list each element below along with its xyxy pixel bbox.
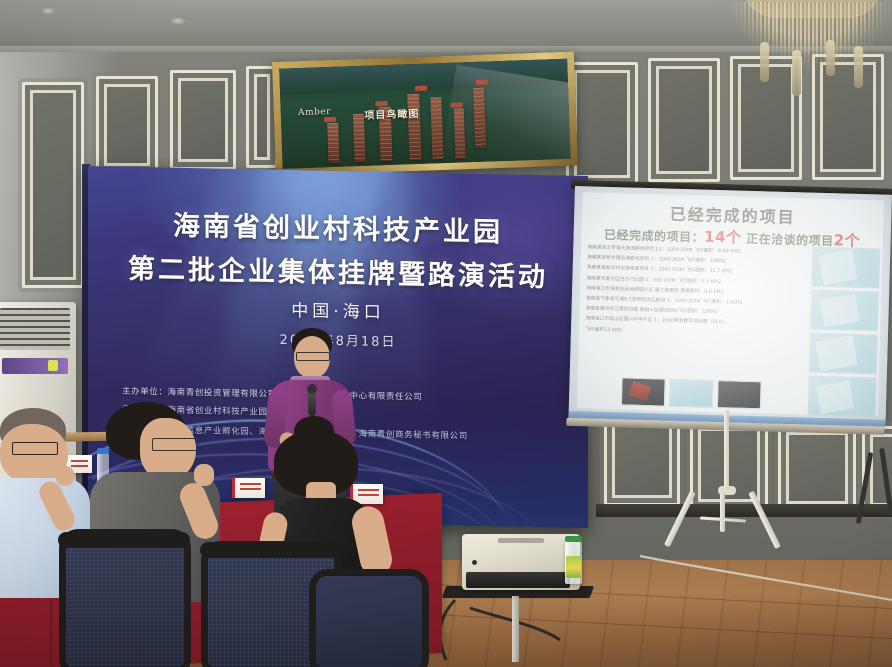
headline-prefix: 已经完成的项目： bbox=[604, 228, 704, 245]
slide-line: 海南海口市琼山区国兴中学片区 1：2000带状数字线划图（DLG）， bbox=[585, 316, 785, 328]
wall-panel bbox=[96, 76, 158, 174]
ceiling-spotlight bbox=[170, 18, 186, 25]
ceiling-spotlight bbox=[40, 8, 56, 15]
slide-line: 海南海口市海甸岛绿地荣域小区 真三维模型 建模面积：0.6 KM2 bbox=[586, 285, 786, 297]
slide-line: 海南某市美兰区白沙门公园 1：500 DOM 飞行面积：0.5 KM2 bbox=[586, 275, 786, 287]
audience1-hand bbox=[56, 466, 74, 486]
banner-title-line1: 海南省创业村科技产业园 bbox=[88, 202, 588, 251]
chair-mesh bbox=[66, 536, 184, 667]
slide-thumbnail bbox=[808, 376, 877, 418]
ac-vent-grill bbox=[0, 308, 70, 350]
speaker-glasses bbox=[296, 352, 330, 361]
chair-backrest bbox=[316, 576, 422, 667]
chandelier-drop bbox=[792, 50, 801, 96]
ac-control-panel bbox=[2, 358, 68, 374]
projector-stand-pole bbox=[512, 596, 519, 662]
slide-line: 飞行面积15 KM2 bbox=[585, 326, 785, 338]
picture-caption: 项目鸟瞰图 bbox=[364, 105, 419, 122]
building-label-tag bbox=[450, 102, 462, 107]
chair-armrest bbox=[58, 532, 190, 548]
slide-thumbnail-column bbox=[808, 247, 879, 421]
slide-bottom-thumbnails bbox=[621, 377, 762, 409]
chair-armrest bbox=[200, 542, 340, 558]
slide-thumbnail bbox=[809, 333, 878, 375]
office-chair-partial bbox=[316, 576, 426, 667]
building bbox=[454, 108, 466, 158]
wall-panel bbox=[566, 62, 638, 186]
chandelier-drop bbox=[854, 46, 863, 88]
office-chair bbox=[58, 528, 190, 667]
banner-title-line2: 第二批企业集体挂牌暨路演活动 bbox=[88, 246, 588, 295]
microphone-head bbox=[307, 384, 317, 394]
framed-aerial-rendering: Amber 项目鸟瞰图 bbox=[272, 51, 578, 175]
chandelier-beads bbox=[732, 2, 892, 94]
bottle-cap bbox=[565, 536, 582, 542]
picture-artwork: Amber 项目鸟瞰图 bbox=[279, 59, 570, 169]
photo-scene: Amber 项目鸟瞰图 海南省创业村科技产业园 第二批企业集体挂牌暨路演活动 中… bbox=[0, 0, 892, 667]
slide-content: 已经完成的项目 已经完成的项目：14个 正在洽谈的项目2个 海南某县文罗镇大海湾… bbox=[577, 192, 884, 416]
building-label-tag bbox=[415, 86, 427, 91]
projector-indicator bbox=[472, 560, 477, 565]
projection-screen: 已经完成的项目 已经完成的项目：14个 正在洽谈的项目2个 海南某县文罗镇大海湾… bbox=[569, 186, 892, 427]
slide-thumbnail bbox=[811, 247, 880, 289]
screen-surface: 已经完成的项目 已经完成的项目：14个 正在洽谈的项目2个 海南某县文罗镇大海湾… bbox=[569, 186, 892, 427]
building bbox=[430, 97, 443, 159]
picture-brand-logo: Amber bbox=[298, 107, 331, 118]
wall-panel bbox=[648, 58, 720, 182]
chandelier-drop bbox=[760, 42, 769, 82]
count-done: 14个 bbox=[704, 228, 742, 247]
building bbox=[353, 114, 366, 162]
slide-bottom-thumbnail bbox=[717, 380, 762, 409]
building bbox=[327, 123, 339, 163]
building bbox=[407, 94, 421, 160]
headline-mid: 正在洽谈的项目 bbox=[741, 232, 834, 249]
building bbox=[473, 88, 486, 148]
baseboard bbox=[596, 504, 892, 517]
tripod-leg bbox=[720, 492, 725, 532]
slide-bottom-thumbnail bbox=[669, 379, 714, 408]
bottle-label bbox=[566, 556, 581, 578]
wall-panel bbox=[22, 82, 84, 288]
slide-line: 海南某县新华村灾毁修复项目 1：2000 DOM 飞行面积：12.7 KM2 bbox=[587, 265, 787, 277]
projector-top-vent bbox=[498, 538, 544, 543]
audience1-glasses bbox=[12, 442, 58, 455]
chandelier-drop bbox=[826, 40, 835, 76]
wall-panel bbox=[778, 424, 856, 512]
audience2-hand bbox=[194, 464, 214, 486]
chandelier bbox=[726, 0, 892, 96]
slide-project-list: 海南某县文罗镇大海湾耕地项目上1：1000 DOM 飞行面积：6.89 KM2 … bbox=[585, 244, 783, 341]
building-label-tag bbox=[476, 79, 488, 84]
projector-lens-panel bbox=[466, 572, 570, 588]
slide-thumbnail bbox=[810, 290, 879, 332]
ac-indicator bbox=[48, 360, 58, 371]
audience2-glasses bbox=[152, 438, 198, 451]
slide-bottom-thumbnail bbox=[621, 377, 666, 406]
building-label-tag bbox=[324, 117, 336, 122]
wall-panel bbox=[170, 70, 236, 170]
tripod-pole bbox=[724, 410, 729, 490]
wall-panel bbox=[604, 416, 680, 506]
